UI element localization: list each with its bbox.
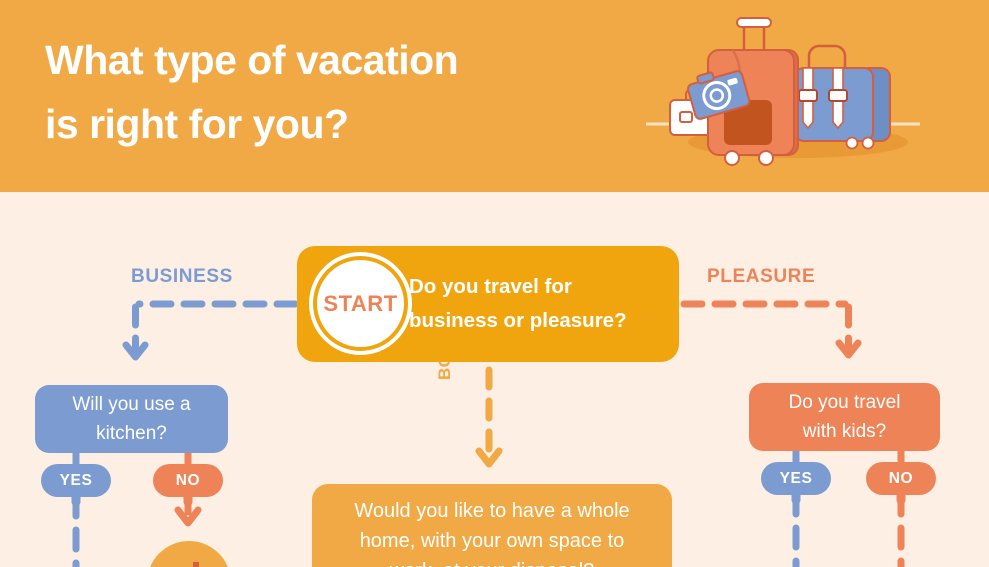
whole-home-question-text: Would you like to have a whole home, wit… <box>348 496 635 567</box>
answer-pill-yes-kitchen[interactable]: YES <box>41 464 111 497</box>
kitchen-question-line-2: kitchen? <box>96 423 167 444</box>
start-badge-label: START <box>323 291 397 317</box>
start-question-line-2: business or pleasure? <box>409 309 627 332</box>
branch-label-pleasure: PLEASURE <box>707 266 815 288</box>
node-whole-home-question[interactable]: Would you like to have a whole home, wit… <box>312 484 672 567</box>
kitchen-question-text: Will you use a kitchen? <box>66 390 196 448</box>
start-question-line-1: Do you travel for <box>409 275 572 298</box>
connector-business <box>136 304 296 350</box>
whole-home-line-3: work, at your disposal? <box>390 560 595 567</box>
kids-question-line-2: with kids? <box>803 421 886 442</box>
header-banner: What type of vacation is right for you? <box>0 0 989 192</box>
answer-pill-yes-kids[interactable]: YES <box>761 462 831 495</box>
connector-pleasure <box>684 304 849 348</box>
page-title-line-1: What type of vacation <box>45 28 605 92</box>
branch-label-business: BUSINESS <box>131 266 233 288</box>
infographic-page: What type of vacation is right for you? <box>0 0 989 567</box>
page-title-line-2: is right for you? <box>45 92 605 156</box>
whole-home-line-1: Would you like to have a whole <box>354 500 629 522</box>
node-kids-question[interactable]: Do you travel with kids? <box>749 383 940 451</box>
kitchen-question-line-1: Will you use a <box>72 394 190 415</box>
answer-pill-no-kitchen[interactable]: NO <box>153 464 223 497</box>
answer-pill-no-kids[interactable]: NO <box>866 462 936 495</box>
connector-both-arrowhead <box>479 451 499 464</box>
kids-question-line-1: Do you travel <box>789 392 901 413</box>
luggage-illustration <box>630 0 989 192</box>
whole-home-line-2: home, with your own space to <box>360 530 625 552</box>
kids-question-text: Do you travel with kids? <box>783 388 907 446</box>
node-kitchen-question[interactable]: Will you use a kitchen? <box>35 385 228 453</box>
start-badge: START <box>313 256 408 351</box>
page-title: What type of vacation is right for you? <box>45 28 605 156</box>
start-question-text: Do you travel for business or pleasure? <box>409 270 627 338</box>
